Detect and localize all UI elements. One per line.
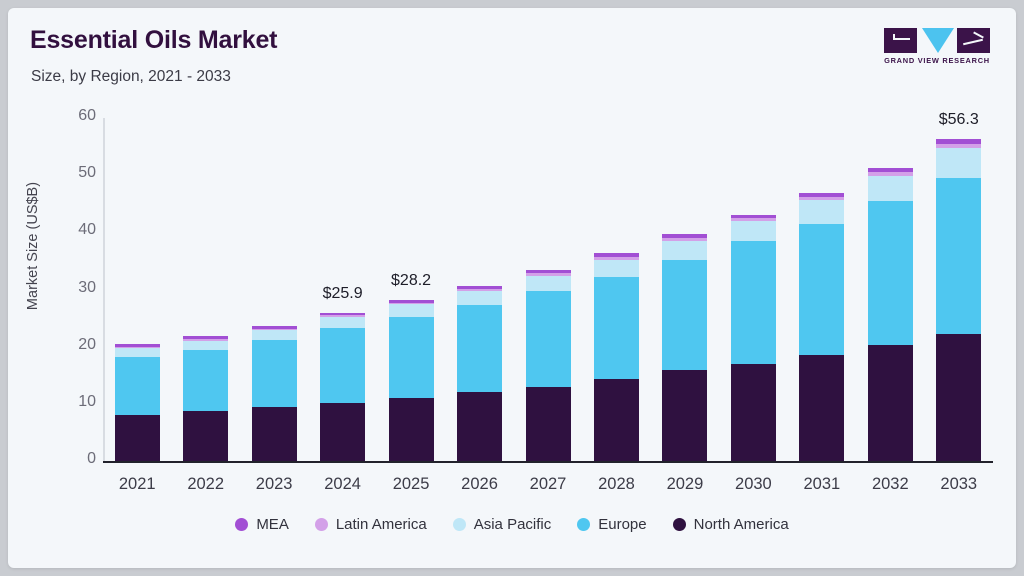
bar-segment-mea[interactable]	[731, 215, 776, 218]
bar-segment-asia-pacific[interactable]	[662, 241, 707, 260]
bar-group[interactable]: 2031	[799, 8, 844, 568]
bar-group[interactable]: 2030	[731, 8, 776, 568]
bar-segment-europe[interactable]	[936, 178, 981, 334]
bar-segment-latin-america[interactable]	[252, 329, 297, 331]
bar-segment-latin-america[interactable]	[594, 257, 639, 260]
legend-label: Latin America	[336, 516, 427, 533]
bar-segment-mea[interactable]	[252, 326, 297, 329]
x-axis-tick: 2023	[252, 475, 297, 494]
bar-segment-asia-pacific[interactable]	[183, 340, 228, 350]
legend-item[interactable]: Europe	[577, 516, 646, 533]
legend-label: Asia Pacific	[474, 516, 552, 533]
x-axis-tick: 2032	[868, 475, 913, 494]
bar-segment-europe[interactable]	[526, 291, 571, 386]
y-axis-tick: 40	[46, 221, 96, 239]
bar-segment-europe[interactable]	[594, 277, 639, 379]
bar-segment-mea[interactable]	[868, 168, 913, 172]
bar-segment-asia-pacific[interactable]	[252, 330, 297, 340]
x-axis-tick: 2033	[936, 475, 981, 494]
bar-segment-north-america[interactable]	[936, 334, 981, 461]
bar-group[interactable]: 2028	[594, 8, 639, 568]
legend-color-swatch	[453, 518, 466, 531]
x-axis-tick: 2029	[662, 475, 707, 494]
x-axis-tick: 2030	[731, 475, 776, 494]
x-axis-tick: 2025	[389, 475, 434, 494]
bar-segment-north-america[interactable]	[731, 364, 776, 461]
y-axis-tick: 0	[46, 450, 96, 468]
bar-segment-latin-america[interactable]	[320, 315, 365, 317]
legend-color-swatch	[577, 518, 590, 531]
bar-segment-north-america[interactable]	[183, 411, 228, 461]
bar-segment-europe[interactable]	[799, 224, 844, 355]
bar-segment-asia-pacific[interactable]	[457, 291, 502, 305]
legend-item[interactable]: MEA	[235, 516, 289, 533]
legend-label: North America	[694, 516, 789, 533]
bar-segment-europe[interactable]	[389, 317, 434, 398]
bar-value-label: $28.2	[382, 272, 441, 290]
bar-segment-north-america[interactable]	[320, 403, 365, 461]
legend-label: MEA	[256, 516, 289, 533]
bar-segment-north-america[interactable]	[115, 415, 160, 461]
bar-segment-asia-pacific[interactable]	[320, 317, 365, 328]
bar-group[interactable]: $56.32033	[936, 8, 981, 568]
bar-segment-europe[interactable]	[183, 350, 228, 411]
bar-group[interactable]: 2026	[457, 8, 502, 568]
x-axis-tick: 2024	[320, 475, 365, 494]
bar-group[interactable]: 2023	[252, 8, 297, 568]
bar-segment-europe[interactable]	[252, 340, 297, 407]
x-axis-tick: 2021	[115, 475, 160, 494]
bar-segment-latin-america[interactable]	[868, 172, 913, 176]
bar-segment-asia-pacific[interactable]	[115, 348, 160, 357]
legend-label: Europe	[598, 516, 646, 533]
bar-segment-mea[interactable]	[183, 336, 228, 339]
bar-segment-europe[interactable]	[662, 260, 707, 370]
bar-segment-asia-pacific[interactable]	[389, 304, 434, 317]
y-axis-tick: 50	[46, 164, 96, 182]
bar-segment-mea[interactable]	[457, 286, 502, 289]
bar-segment-mea[interactable]	[799, 193, 844, 197]
legend-item[interactable]: Asia Pacific	[453, 516, 552, 533]
y-axis-tick: 20	[46, 336, 96, 354]
bar-segment-north-america[interactable]	[662, 370, 707, 461]
legend-item[interactable]: North America	[673, 516, 789, 533]
bar-segment-latin-america[interactable]	[457, 289, 502, 291]
bar-group[interactable]: $28.22025	[389, 8, 434, 568]
bar-segment-north-america[interactable]	[594, 379, 639, 461]
bar-segment-latin-america[interactable]	[389, 303, 434, 305]
bar-group[interactable]: $25.92024	[320, 8, 365, 568]
bar-segment-north-america[interactable]	[252, 407, 297, 461]
bar-group[interactable]: 2021	[115, 8, 160, 568]
bar-segment-mea[interactable]	[662, 234, 707, 238]
bar-segment-asia-pacific[interactable]	[594, 260, 639, 277]
bar-segment-mea[interactable]	[594, 253, 639, 257]
bar-segment-asia-pacific[interactable]	[799, 200, 844, 223]
x-axis-tick: 2031	[799, 475, 844, 494]
bar-segment-mea[interactable]	[389, 300, 434, 303]
x-axis-tick: 2022	[183, 475, 228, 494]
bar-segment-latin-america[interactable]	[731, 218, 776, 221]
x-axis-tick: 2027	[526, 475, 571, 494]
x-axis-tick: 2026	[457, 475, 502, 494]
bar-group[interactable]: 2022	[183, 8, 228, 568]
chart-legend: MEALatin AmericaAsia PacificEuropeNorth …	[8, 516, 1016, 533]
bar-value-label: $56.3	[930, 111, 989, 129]
bar-segment-latin-america[interactable]	[936, 144, 981, 148]
bar-segment-mea[interactable]	[115, 344, 160, 347]
bar-segment-north-america[interactable]	[457, 392, 502, 461]
legend-color-swatch	[235, 518, 248, 531]
bar-segment-asia-pacific[interactable]	[936, 148, 981, 178]
bar-segment-europe[interactable]	[731, 241, 776, 363]
chart-card: Essential Oils Market Size, by Region, 2…	[8, 8, 1016, 568]
legend-color-swatch	[673, 518, 686, 531]
bar-segment-latin-america[interactable]	[662, 238, 707, 241]
y-axis-tick: 30	[46, 279, 96, 297]
bar-segment-europe[interactable]	[115, 357, 160, 415]
x-axis-tick: 2028	[594, 475, 639, 494]
bar-group[interactable]: 2027	[526, 8, 571, 568]
bar-segment-mea[interactable]	[320, 313, 365, 315]
bar-segment-north-america[interactable]	[799, 355, 844, 461]
legend-item[interactable]: Latin America	[315, 516, 427, 533]
bar-segment-latin-america[interactable]	[183, 339, 228, 341]
bar-segment-europe[interactable]	[320, 328, 365, 402]
y-axis-ticks: 6050403020100	[36, 8, 96, 568]
bar-value-label: $25.9	[313, 285, 372, 303]
bar-segment-north-america[interactable]	[389, 398, 434, 461]
bar-segment-latin-america[interactable]	[115, 347, 160, 349]
bar-segment-europe[interactable]	[457, 305, 502, 392]
bar-segment-latin-america[interactable]	[526, 273, 571, 275]
bar-segment-north-america[interactable]	[526, 387, 571, 461]
stacked-bar-chart: Market Size (US$B) 6050403020100 2021202…	[8, 8, 1016, 568]
bar-segment-latin-america[interactable]	[799, 197, 844, 200]
bar-group[interactable]: 2029	[662, 8, 707, 568]
legend-color-swatch	[315, 518, 328, 531]
bar-segment-asia-pacific[interactable]	[731, 221, 776, 242]
y-axis-tick: 10	[46, 393, 96, 411]
bar-segment-mea[interactable]	[936, 139, 981, 144]
y-axis-tick: 60	[46, 107, 96, 125]
bar-segment-mea[interactable]	[526, 270, 571, 273]
bar-segment-asia-pacific[interactable]	[526, 276, 571, 291]
bar-series-area: 202120222023$25.92024$28.220252026202720…	[103, 8, 993, 568]
bar-segment-asia-pacific[interactable]	[868, 176, 913, 202]
bar-group[interactable]: 2032	[868, 8, 913, 568]
bar-segment-north-america[interactable]	[868, 345, 913, 461]
bar-segment-europe[interactable]	[868, 201, 913, 344]
